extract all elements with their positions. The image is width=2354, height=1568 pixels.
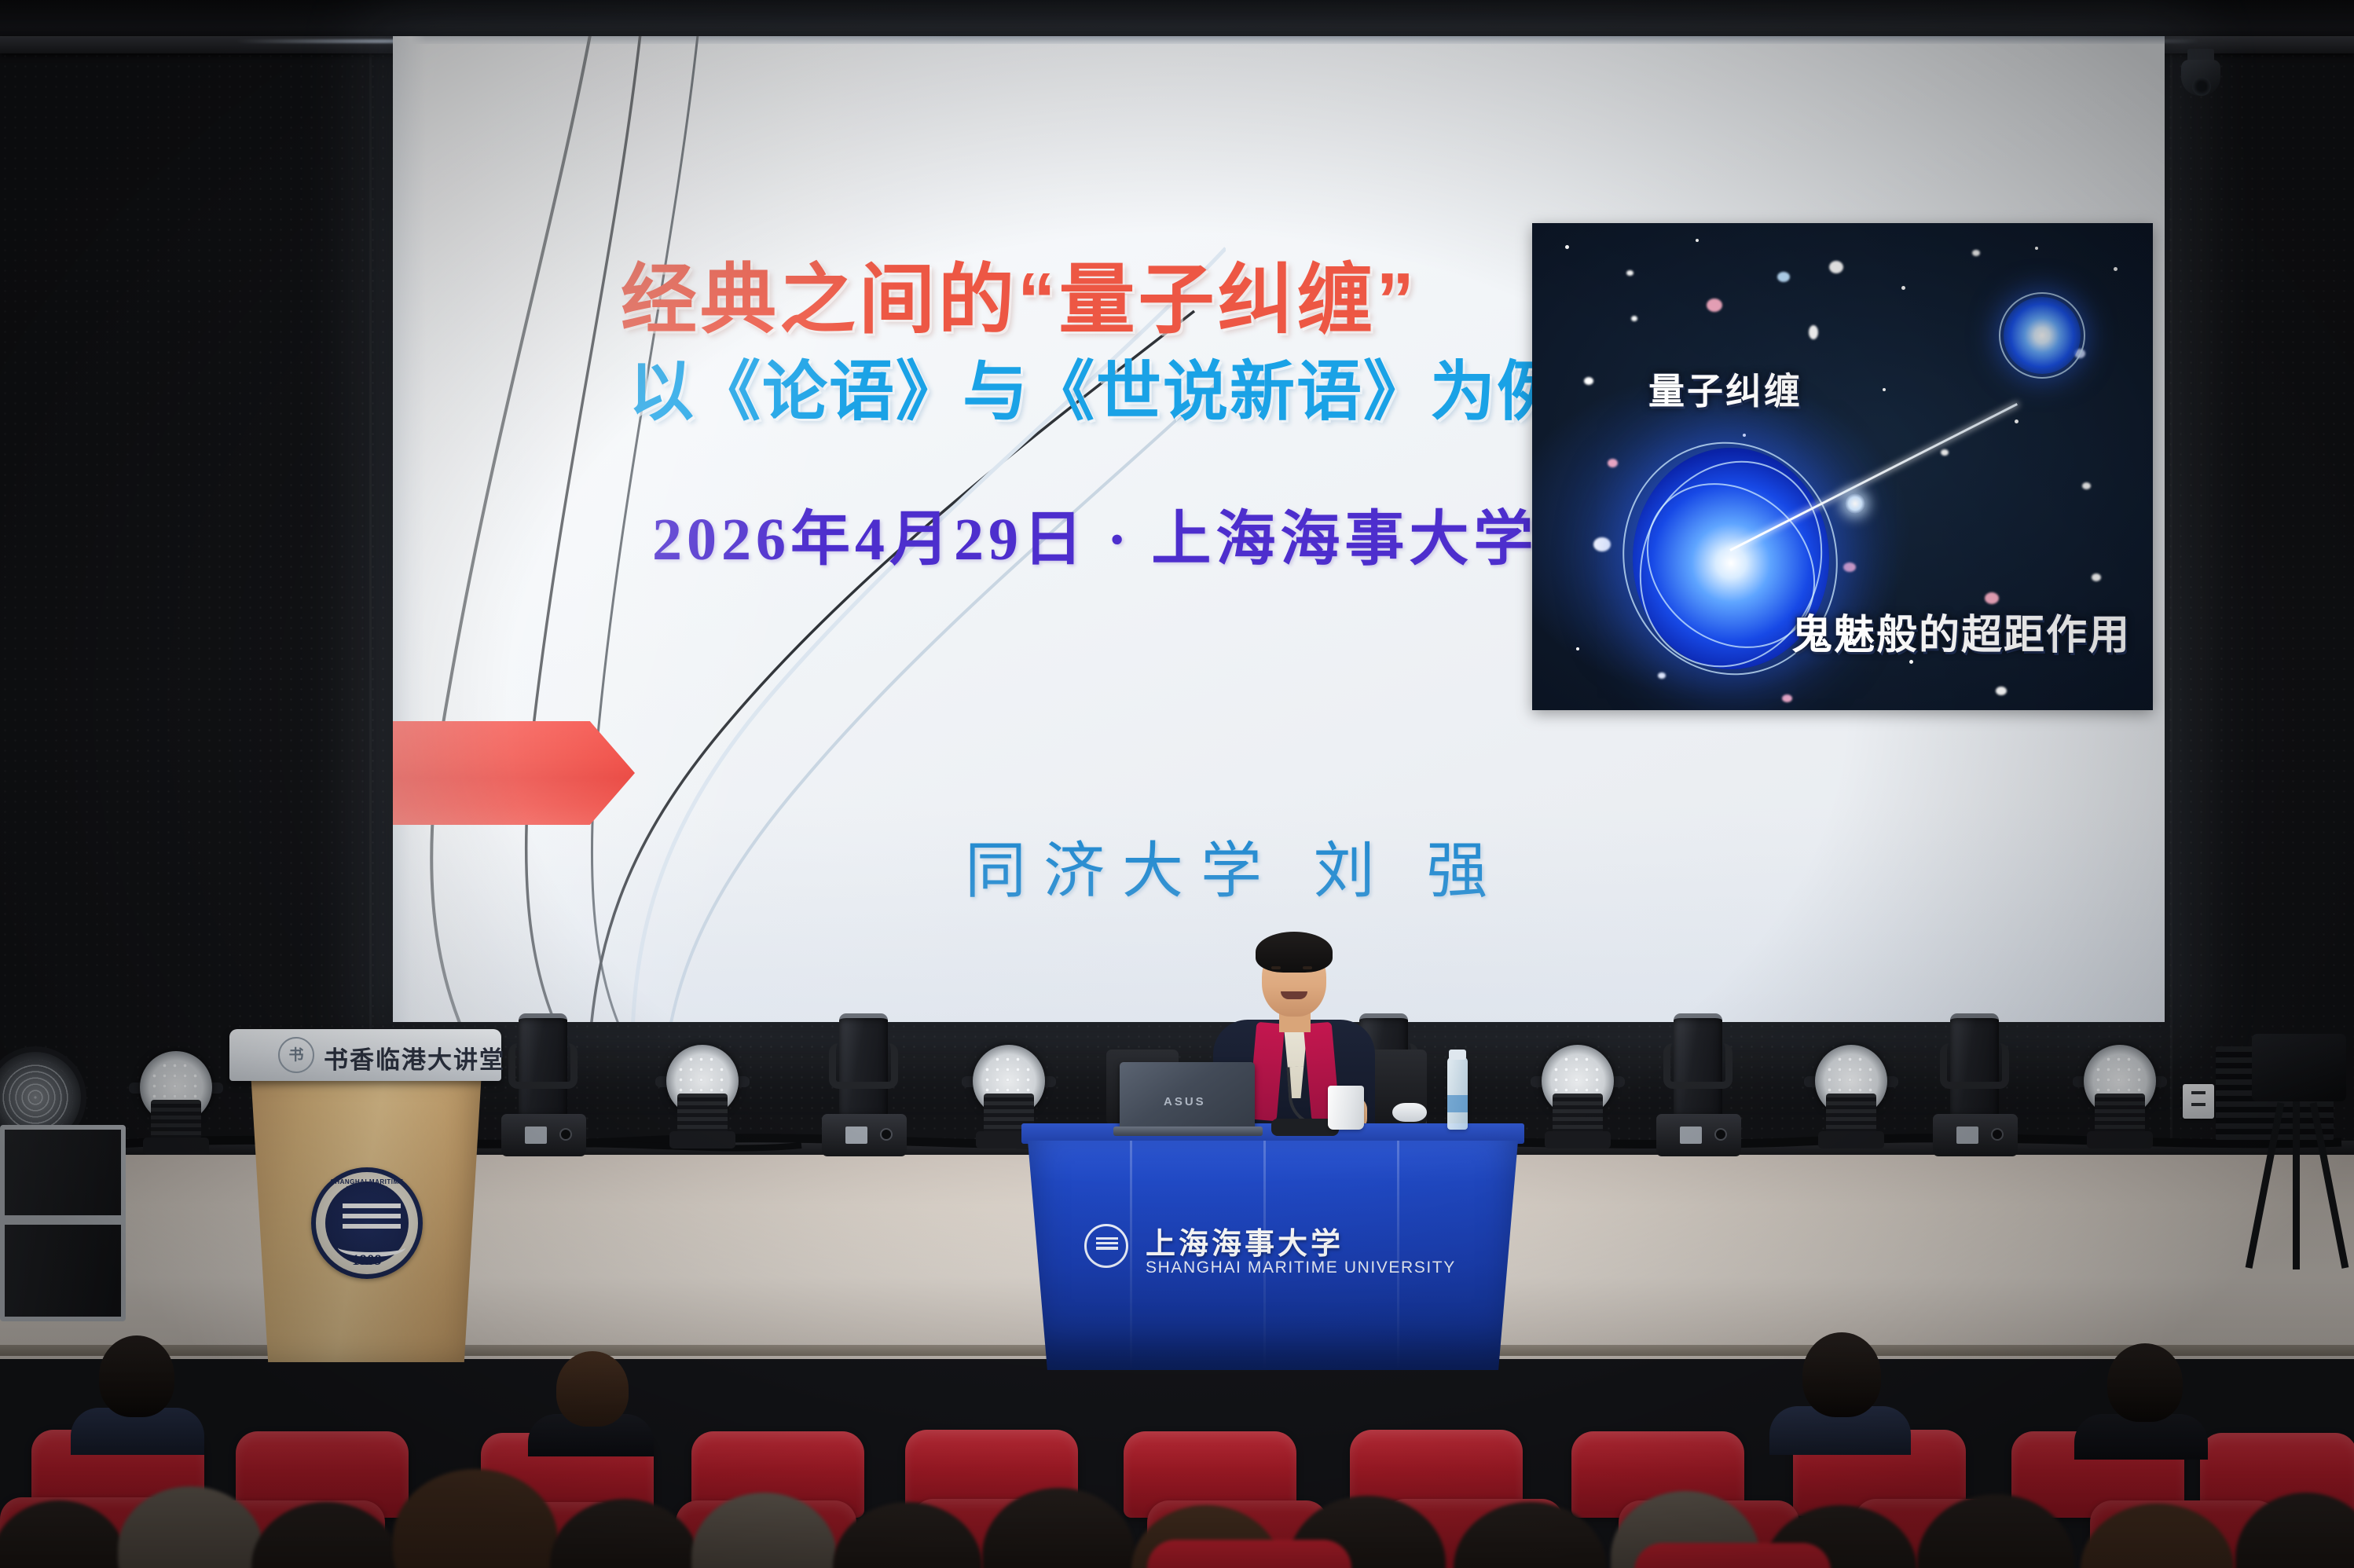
audience-head <box>2107 1343 2183 1422</box>
wall-seam <box>369 0 372 1202</box>
table-banner-english: SHANGHAI MARITIME UNIVERSITY <box>1146 1258 1456 1277</box>
podium-sign-text: 书香临港大讲堂 <box>324 1040 505 1075</box>
university-seal: SHANGHAI MARITIME UNIVERSITY 1909 <box>311 1167 423 1279</box>
orbit-ring-small <box>1999 292 2085 379</box>
bottle-cap <box>1449 1050 1466 1060</box>
bottle-label <box>1447 1095 1468 1112</box>
white-mug <box>1328 1086 1364 1130</box>
audience-head <box>1802 1332 1881 1417</box>
photo-scene: 经典之间的“量子纠缠” 以《论语》与《世说新语》为例 2026年4月29日 · … <box>0 0 2354 1568</box>
led-par-light <box>140 1051 212 1123</box>
screen-left-edge <box>393 36 426 1022</box>
podium-emblem-icon: 书 <box>278 1037 314 1073</box>
tripod-leg <box>2293 1101 2300 1269</box>
laptop-base <box>1113 1127 1263 1136</box>
audience-head <box>556 1351 629 1427</box>
slide-presenter-line: 同济大学 刘 强 <box>965 822 1505 910</box>
screen-top-edge <box>393 36 2165 44</box>
table-seal-icon <box>1084 1224 1128 1268</box>
beam-node <box>1845 493 1865 514</box>
presenter-eye <box>1303 966 1312 969</box>
audience-head <box>99 1335 174 1417</box>
slide-subtitle: 以《论语》与《世说新语》为例 <box>629 339 1564 433</box>
tripod-leg <box>2310 1102 2349 1269</box>
tripod-video-camera <box>2244 1034 2354 1269</box>
presenter-mouth <box>1281 991 1307 999</box>
ceiling-ptz-camera <box>2176 49 2224 104</box>
slide-title: 经典之间的“量子纠缠” <box>621 237 1417 348</box>
camera-body <box>2252 1034 2346 1101</box>
table-banner-chinese: 上海海事大学 <box>1146 1219 1344 1262</box>
camera-lens-icon <box>2192 77 2211 96</box>
space-image-caption-bottom: 鬼魅般的超距作用 <box>1791 602 2131 661</box>
slide-date-venue: 2026年4月29日 · 上海海事大学 <box>652 490 1538 577</box>
projection-screen: 经典之间的“量子纠缠” 以《论语》与《世说新语》为例 2026年4月29日 · … <box>393 36 2165 1022</box>
podium-sign-panel: 书 书香临港大讲堂 <box>229 1029 501 1081</box>
seal-bridge-glyph <box>343 1203 401 1235</box>
led-par-light <box>2084 1045 2156 1117</box>
led-par-light <box>1815 1045 1887 1117</box>
presenter-laptop: ASUS <box>1120 1062 1255 1134</box>
space-image-caption-top: 量子纠缠 <box>1648 363 1802 415</box>
led-par-light <box>973 1045 1045 1117</box>
equipment-flight-case <box>0 1125 126 1321</box>
led-par-light <box>1542 1045 1614 1117</box>
tripod-leg <box>2246 1102 2285 1269</box>
seal-year: 1909 <box>316 1252 418 1269</box>
wall-power-outlet <box>2183 1084 2214 1119</box>
slide-space-image: 量子纠缠 鬼魅般的超距作用 <box>1532 223 2153 710</box>
wall-seam <box>2170 0 2172 1202</box>
audience-shoulders <box>1147 1540 1351 1568</box>
led-par-light <box>666 1045 739 1117</box>
audience-shoulders <box>1634 1543 1831 1568</box>
laptop-brand-label: ASUS <box>1164 1095 1206 1108</box>
presenter-hair <box>1256 932 1333 973</box>
red-arrow-banner <box>393 721 635 825</box>
computer-mouse <box>1392 1103 1427 1122</box>
presenter-eye <box>1271 966 1281 969</box>
audience-area <box>0 1304 2354 1568</box>
water-bottle <box>1447 1057 1468 1130</box>
